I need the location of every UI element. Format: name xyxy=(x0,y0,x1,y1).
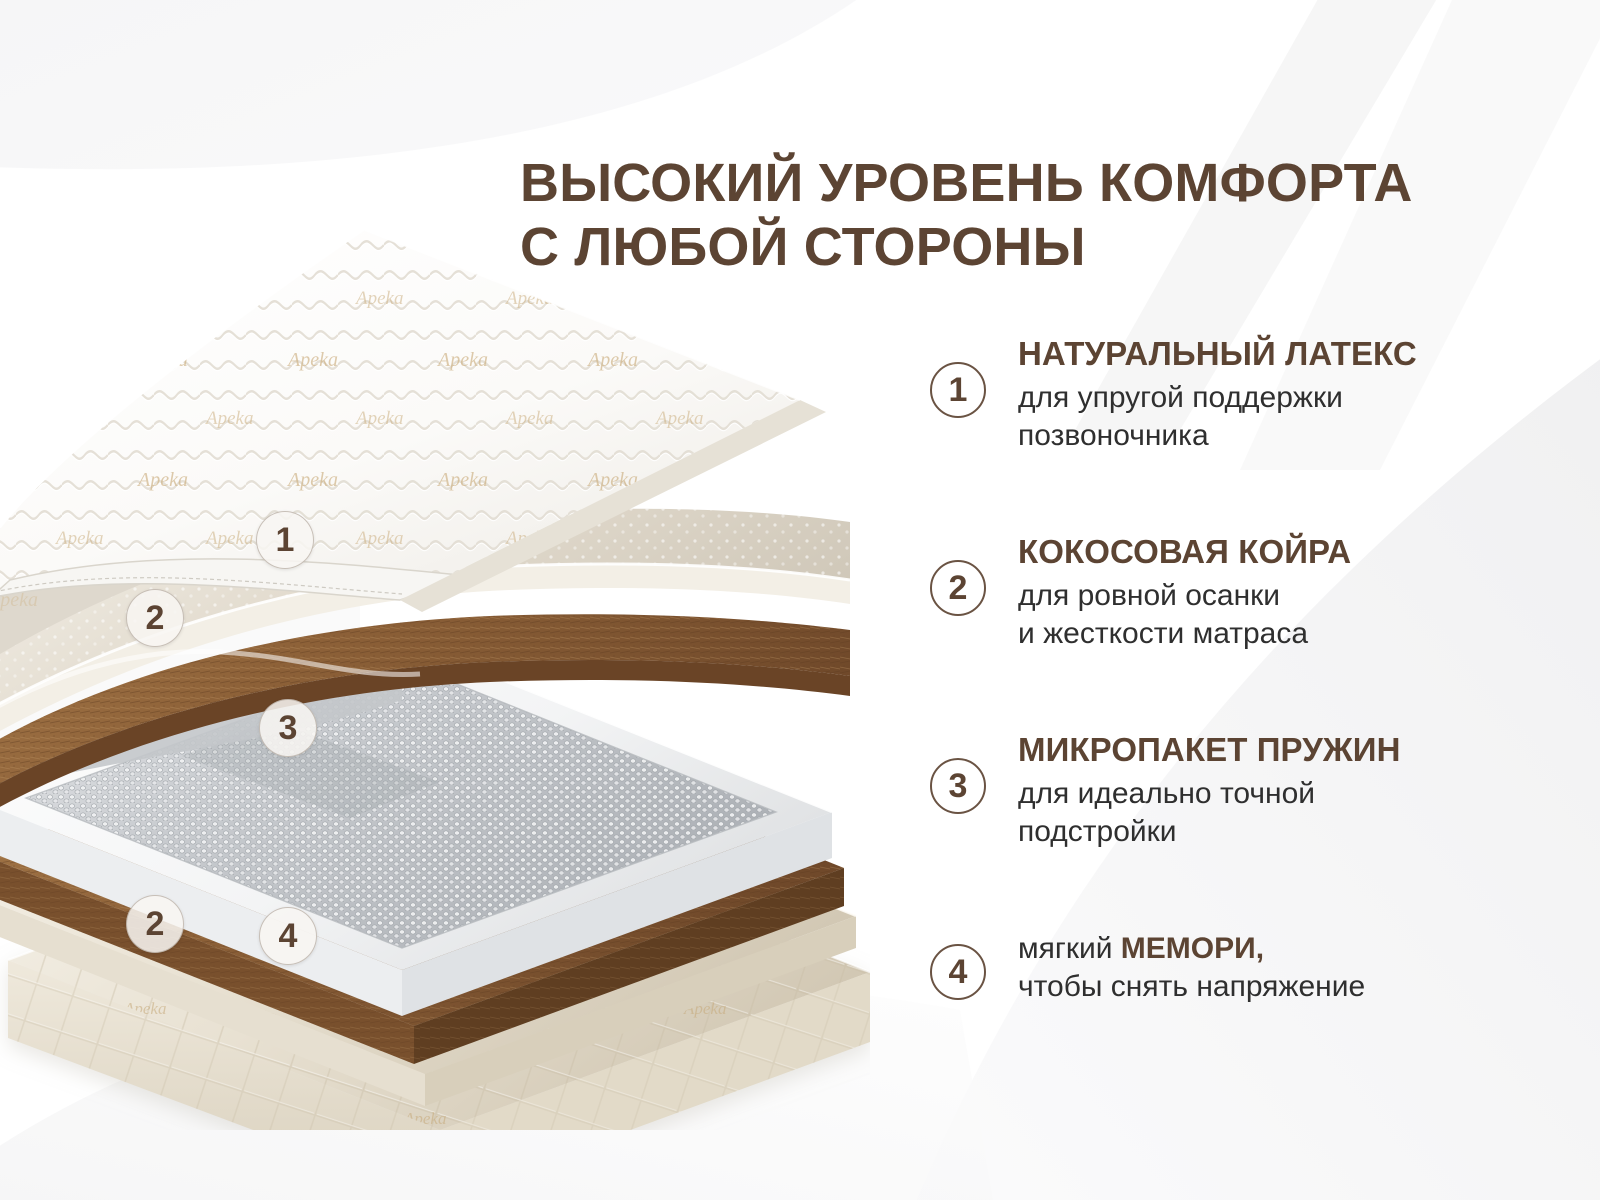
feature-desc-springs-line-1: для идеально точной xyxy=(1018,775,1570,813)
mattress-cutaway-illustration: Apeka Apeka xyxy=(0,200,870,1130)
feature-item-coir: 2 КОКОСОВАЯ КОЙРА для ровной осанки и же… xyxy=(930,534,1570,654)
feature-desc-springs-line-2: подстройки xyxy=(1018,813,1570,851)
callout-badge-coir-bottom: 2 xyxy=(126,895,184,953)
feature-desc-coir-line-2: и жесткости матраса xyxy=(1018,615,1570,653)
callout-badge-springs: 3 xyxy=(259,699,317,757)
infographic-canvas: ВЫСОКИЙ УРОВЕНЬ КОМФОРТА С ЛЮБОЙ СТОРОНЫ… xyxy=(0,0,1600,1200)
feature-item-springs: 3 МИКРОПАКЕТ ПРУЖИН для идеально точной … xyxy=(930,732,1570,852)
feature-desc-memory-line-2: чтобы снять напряжение xyxy=(1018,968,1570,1006)
feature-number-4: 4 xyxy=(930,944,986,1000)
feature-title-coir: КОКОСОВАЯ КОЙРА xyxy=(1018,534,1570,571)
layer-quilted-cover xyxy=(0,230,826,654)
callout-badge-coir-top: 2 xyxy=(126,589,184,647)
feature-number-3: 3 xyxy=(930,758,986,814)
callout-badge-memory: 4 xyxy=(259,907,317,965)
feature-number-2: 2 xyxy=(930,560,986,616)
feature-desc-memory-line-1: мягкий МЕМОРИ, xyxy=(1018,930,1570,968)
feature-list: 1 НАТУРАЛЬНЫЙ ЛАТЕКС для упругой поддерж… xyxy=(930,336,1570,1026)
feature-desc-coir-line-1: для ровной осанки xyxy=(1018,577,1570,615)
feature-desc-memory-emphasis: МЕМОРИ, xyxy=(1121,932,1264,965)
feature-number-1: 1 xyxy=(930,362,986,418)
feature-desc-coir: для ровной осанки и жесткости матраса xyxy=(1018,577,1570,654)
feature-title-springs: МИКРОПАКЕТ ПРУЖИН xyxy=(1018,732,1570,769)
callout-badge-latex: 1 xyxy=(256,511,314,569)
feature-title-latex: НАТУРАЛЬНЫЙ ЛАТЕКС xyxy=(1018,336,1570,373)
feature-desc-memory-prefix: мягкий xyxy=(1018,932,1121,965)
feature-desc-springs: для идеально точной подстройки xyxy=(1018,775,1570,852)
feature-desc-latex: для упругой поддержки позвоночника xyxy=(1018,379,1570,456)
feature-item-memory: 4 мягкий МЕМОРИ, чтобы снять напряжение xyxy=(930,930,1570,1026)
feature-desc-latex-line-1: для упругой поддержки xyxy=(1018,379,1570,417)
feature-desc-latex-line-2: позвоночника xyxy=(1018,417,1570,455)
feature-item-latex: 1 НАТУРАЛЬНЫЙ ЛАТЕКС для упругой поддерж… xyxy=(930,336,1570,456)
feature-desc-memory: мягкий МЕМОРИ, чтобы снять напряжение xyxy=(1018,930,1570,1007)
